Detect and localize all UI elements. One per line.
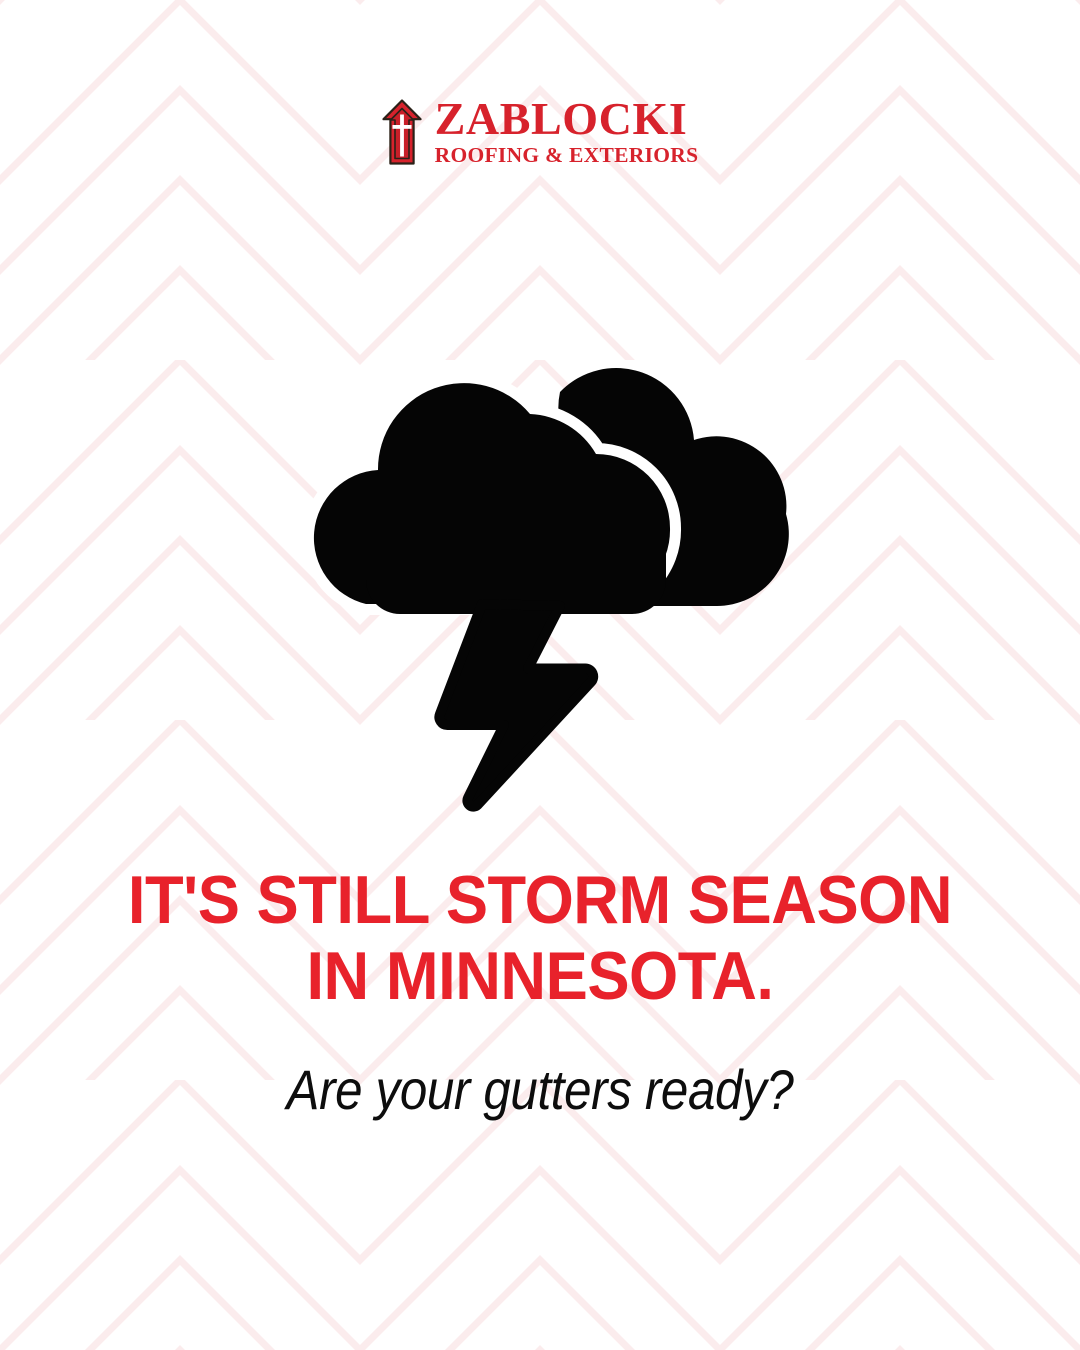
arrow-cross-icon (382, 99, 422, 165)
logo-tagline: ROOFING & EXTERIORS (435, 143, 699, 168)
logo-company-name: ZABLOCKI (435, 96, 688, 141)
storm-cloud-lightning-glyph (260, 322, 822, 812)
brand-logo: ZABLOCKI ROOFING & EXTERIORS (0, 96, 1080, 168)
social-post-canvas: ZABLOCKI ROOFING & EXTERIORS (0, 0, 1080, 1350)
logo-wordmark: ZABLOCKI ROOFING & EXTERIORS (435, 96, 699, 168)
headline-line-2: IN MINNESOTA. (38, 938, 1042, 1014)
storm-cloud-lightning-icon (260, 322, 822, 812)
headline-line-1: IT'S STILL STORM SEASON (38, 862, 1042, 938)
subheadline: Are your gutters ready? (65, 1058, 1015, 1122)
message-block: IT'S STILL STORM SEASON IN MINNESOTA. Ar… (0, 862, 1080, 1122)
